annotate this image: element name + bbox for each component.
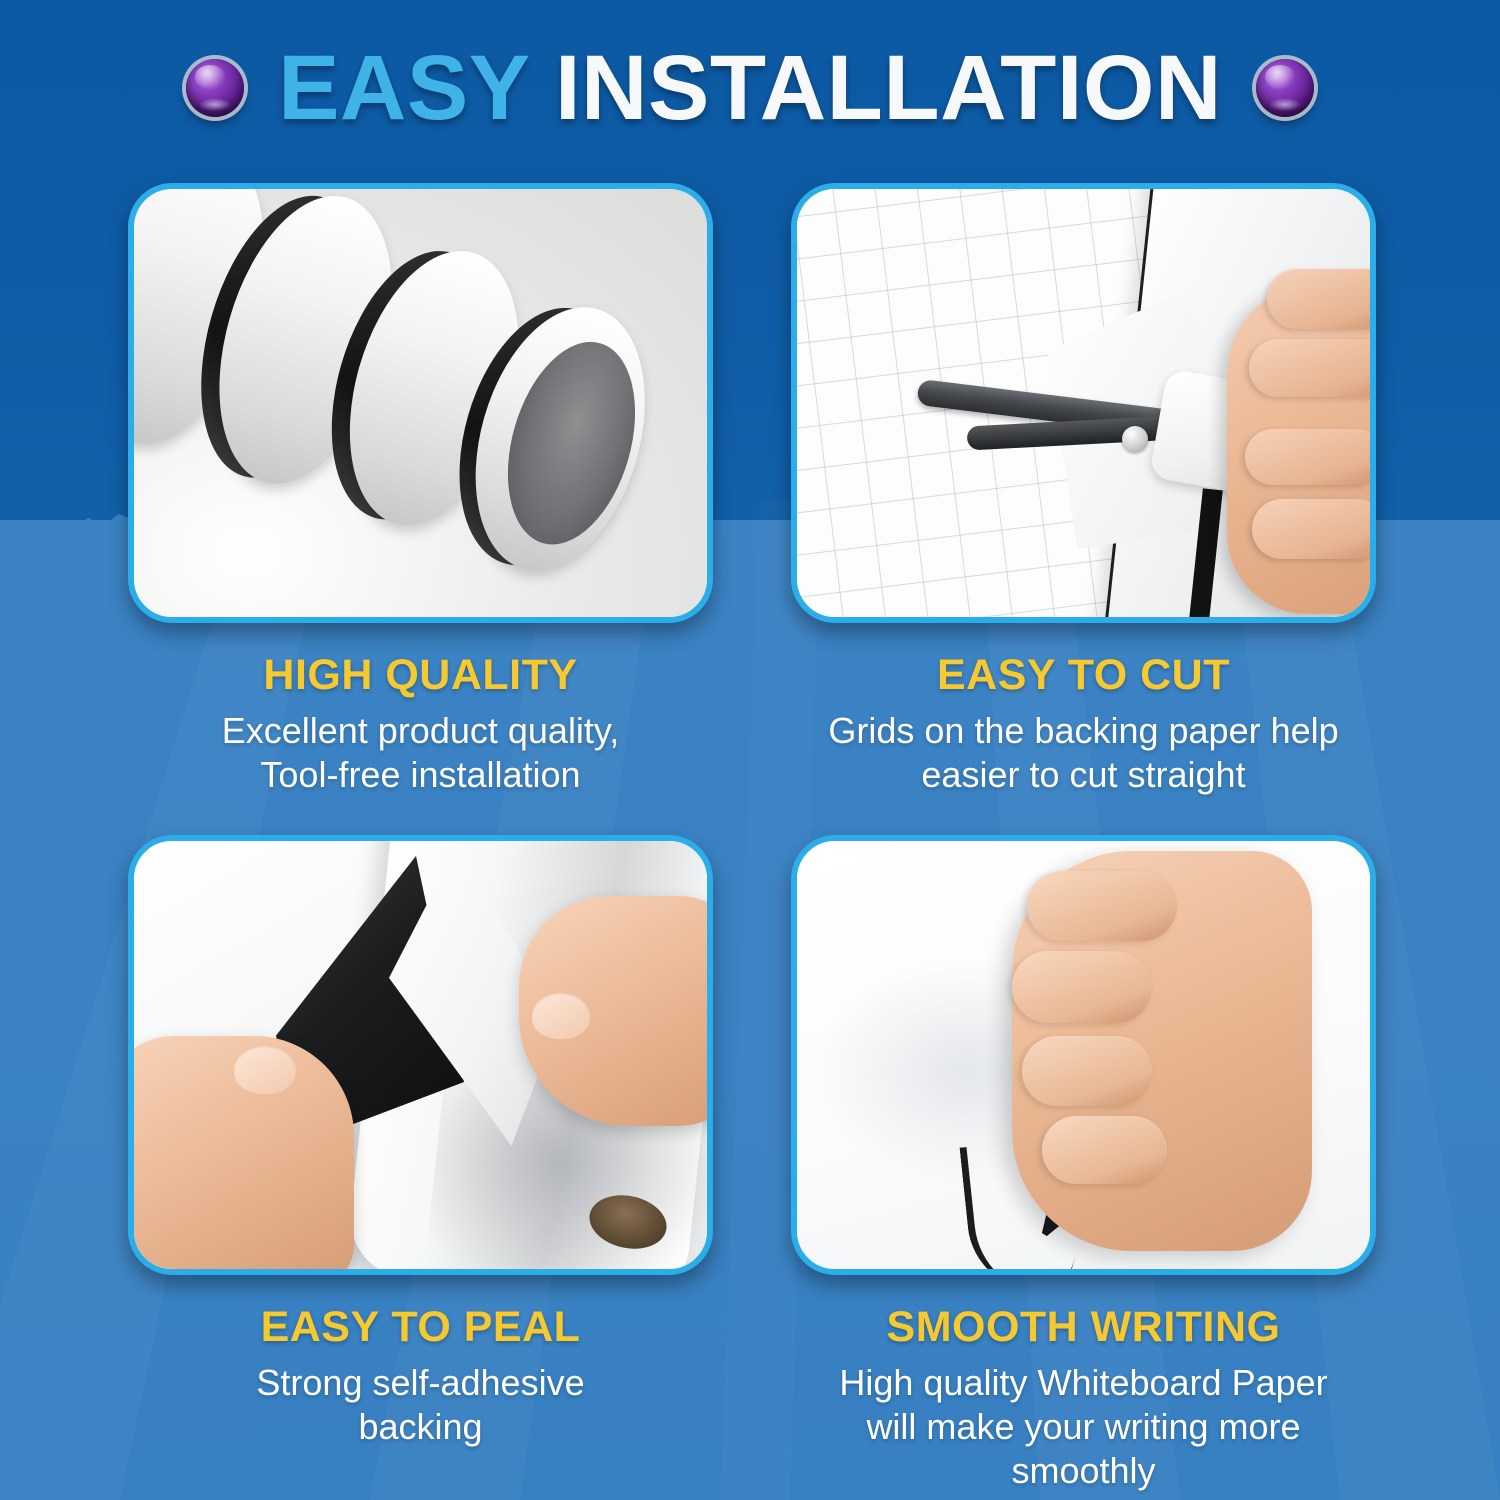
feature-cell-easy-to-peal: EASY TO PEAL Strong self-adhesive backin…: [128, 835, 713, 1493]
caption-high-quality: HIGH QUALITY Excellent product quality, …: [128, 623, 713, 797]
caption-easy-to-cut: EASY TO CUT Grids on the backing paper h…: [791, 623, 1376, 797]
caption-body: Excellent product quality, Tool-free ins…: [128, 709, 713, 797]
caption-body: High quality Whiteboard Paper will make …: [791, 1361, 1376, 1493]
feature-row-top: HIGH QUALITY Excellent product quality, …: [128, 183, 1376, 797]
feature-cell-high-quality: HIGH QUALITY Excellent product quality, …: [128, 183, 713, 797]
photo-panel-easy-to-peal: [128, 835, 713, 1275]
magnet-pin-icon-left: [186, 59, 244, 117]
caption-easy-to-peal: EASY TO PEAL Strong self-adhesive backin…: [128, 1275, 713, 1449]
caption-body: Grids on the backing paper help easier t…: [791, 709, 1376, 797]
page-title: EASY INSTALLATION: [278, 42, 1222, 134]
photo-peeling-backing: [134, 841, 707, 1269]
magnet-pin-icon-right: [1256, 59, 1314, 117]
caption-heading: HIGH QUALITY: [128, 651, 713, 700]
photo-panel-high-quality: [128, 183, 713, 623]
feature-grid: HIGH QUALITY Excellent product quality, …: [128, 183, 1376, 1493]
feature-cell-easy-to-cut: EASY TO CUT Grids on the backing paper h…: [791, 183, 1376, 797]
photo-scissors-cutting: [797, 189, 1370, 617]
caption-heading: EASY TO CUT: [791, 651, 1376, 700]
photo-rolled-whiteboard: [134, 189, 707, 617]
feature-row-bottom: EASY TO PEAL Strong self-adhesive backin…: [128, 835, 1376, 1493]
caption-body: Strong self-adhesive backing: [128, 1361, 713, 1449]
title-word-easy: EASY: [278, 37, 529, 139]
photo-panel-easy-to-cut: [791, 183, 1376, 623]
photo-marker-writing: No.1 Jog JW-526 JIAWEI: [797, 841, 1370, 1269]
caption-heading: SMOOTH WRITING: [791, 1303, 1376, 1352]
photo-panel-smooth-writing: No.1 Jog JW-526 JIAWEI: [791, 835, 1376, 1275]
poster-header: EASY INSTALLATION: [0, 28, 1500, 148]
title-word-installation: INSTALLATION: [555, 37, 1222, 139]
feature-cell-smooth-writing: No.1 Jog JW-526 JIAWEI: [791, 835, 1376, 1493]
caption-heading: EASY TO PEAL: [128, 1303, 713, 1352]
infographic-poster: EASY INSTALLATION: [0, 0, 1500, 1500]
caption-smooth-writing: SMOOTH WRITING High quality Whiteboard P…: [791, 1275, 1376, 1493]
